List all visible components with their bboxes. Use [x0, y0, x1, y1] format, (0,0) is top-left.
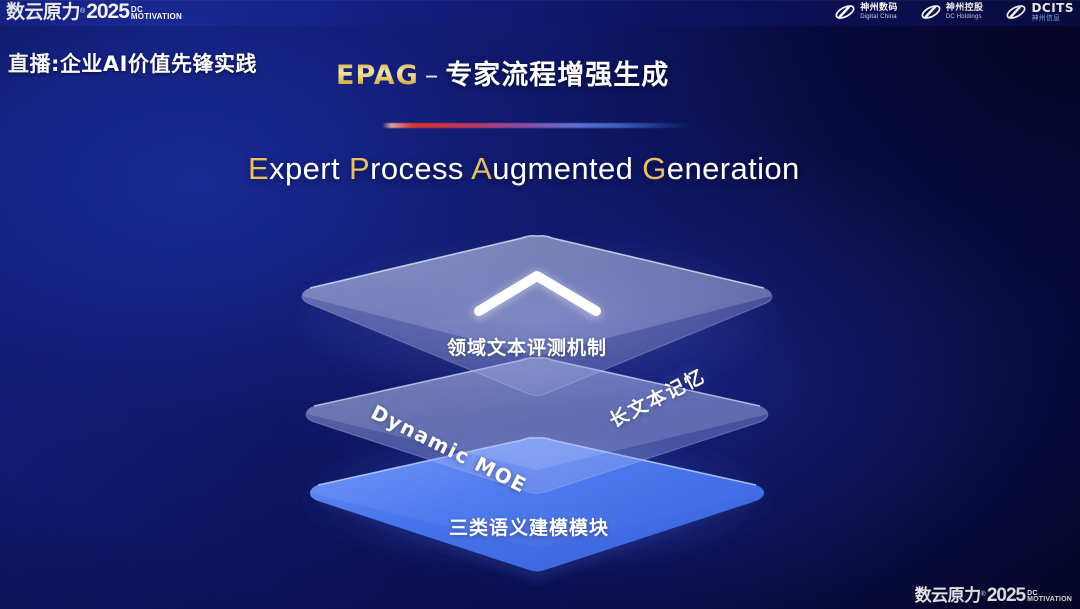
layer-bottom-highlight [310, 438, 764, 548]
partner-logo-digital-china: 神州数码 Digital China [834, 2, 898, 22]
page-title: EPAG–专家流程增强生成 [336, 53, 669, 92]
layer-bottom-edge [318, 438, 756, 485]
title-acronym: EPAG [336, 60, 419, 91]
swoosh-logo-icon [1005, 2, 1027, 22]
partner-name-cn: DCITS [1031, 2, 1074, 15]
partner-name-en: DC Holdings [946, 14, 984, 20]
layer-middle-highlight [306, 358, 768, 470]
layer-top-label: 领域文本评测机制 [447, 333, 607, 360]
partner-name-en: Digital China [860, 14, 898, 20]
live-stream-label: 直播:企业AI价值先锋实践 [8, 48, 257, 78]
subtitle-cap-e: E [248, 151, 269, 186]
partner-logo-text: DCITS 神州信息 [1031, 2, 1074, 22]
swoosh-logo-icon [834, 2, 856, 22]
subtitle-rest-generation: eneration [667, 151, 800, 186]
layer-top [302, 236, 772, 396]
partner-logo-group: 神州数码 Digital China 神州控股 DC Holdings [834, 2, 1074, 22]
registered-mark: ® [80, 8, 85, 15]
watermark-dc-motivation: DC MOTIVATION [1027, 591, 1072, 604]
title-chinese: 专家流程增强生成 [445, 60, 669, 91]
subtitle-cap-g: G [642, 151, 667, 186]
bottom-layer-glow [287, 422, 787, 578]
partner-logo-text: 神州数码 Digital China [860, 4, 898, 20]
layer-middle-label-right: 长文本记忆 [604, 361, 710, 433]
layer-bottom-label: 三类语义建模模块 [449, 513, 609, 540]
top-header-band: 数云原力 ® 2025 DC MOTIVATION 神州数码 Digital C… [0, 0, 1080, 26]
layer-middle-edge-top [314, 358, 760, 406]
layer-middle [306, 358, 768, 494]
layer-bottom-shadow [313, 449, 761, 583]
layer-bottom-face [310, 438, 764, 572]
slide-canvas: 数云原力 ® 2025 DC MOTIVATION 神州数码 Digital C… [0, 0, 1080, 609]
subtitle-rest-process: rocess [370, 151, 471, 186]
title-dash: – [425, 60, 440, 91]
partner-logo-dc-holdings: 神州控股 DC Holdings [920, 2, 984, 22]
layer-top-edge-top [310, 236, 764, 288]
subtitle-rest-augmented: ugmented [492, 151, 642, 186]
subtitle-cap-p: P [349, 151, 370, 186]
brand-logo: 数云原力 ® 2025 DC MOTIVATION [6, 1, 182, 22]
top-layer-glow [297, 240, 777, 400]
layer-top-face [302, 236, 772, 396]
partner-name-en: 神州信息 [1031, 15, 1074, 22]
subtitle-cap-a: A [471, 151, 492, 186]
brand-motivation: MOTIVATION [131, 13, 182, 21]
watermark-motivation: MOTIVATION [1027, 597, 1072, 604]
brand-dc-motivation: DC MOTIVATION [131, 6, 182, 21]
swoosh-logo-icon [920, 2, 942, 22]
partner-logo-dcits: DCITS 神州信息 [1005, 2, 1074, 22]
layer-top-highlight [302, 236, 772, 356]
layer-middle-label-left: Dynamic MOE [367, 400, 531, 498]
layer-middle-face [306, 358, 768, 494]
partner-name-cn: 神州数码 [860, 4, 898, 13]
title-divider [382, 123, 692, 128]
layer-top-edge-bottom [302, 296, 772, 396]
chevron-up-icon [479, 276, 596, 313]
subtitle-rest-expert: xpert [269, 151, 349, 186]
watermark-year: 2025 [987, 586, 1025, 605]
watermark-registered-mark: ® [981, 591, 986, 598]
subtitle: Expert Process Augmented Generation [248, 151, 800, 187]
partner-name-cn: 神州控股 [946, 4, 984, 13]
partner-logo-text: 神州控股 DC Holdings [946, 4, 984, 20]
layer-middle-edge-bottom [306, 414, 768, 494]
brand-year: 2025 [86, 1, 129, 22]
brand-name-cn: 数云原力 [6, 3, 80, 22]
watermark-name-cn: 数云原力 [915, 588, 981, 605]
watermark-logo: 数云原力 ® 2025 DC MOTIVATION [915, 586, 1072, 605]
layer-bottom [310, 438, 764, 583]
